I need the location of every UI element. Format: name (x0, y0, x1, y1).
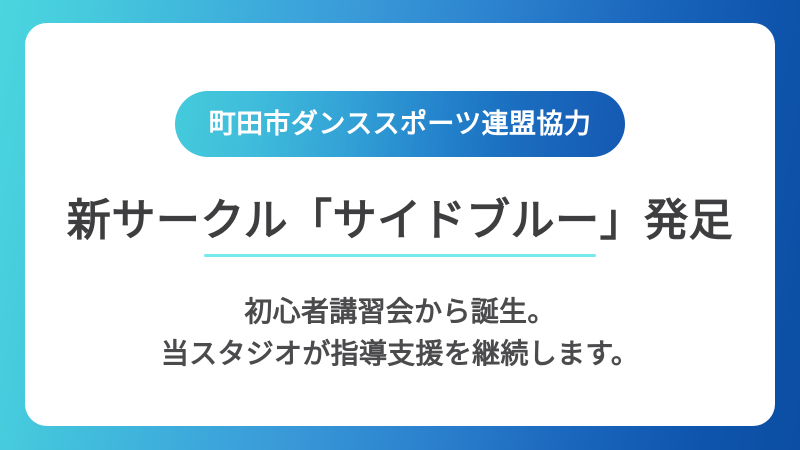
subtitle-block: 初心者講習会から誕生。 当スタジオが指導支援を継続します。 (161, 291, 639, 376)
partnership-badge: 町田市ダンススポーツ連盟協力 (175, 91, 626, 157)
headline-underline-accent (204, 254, 596, 257)
partnership-badge-label: 町田市ダンススポーツ連盟協力 (209, 111, 592, 138)
headline-group: 新サークル「サイドブルー」発足 (67, 195, 733, 257)
slide-background: 町田市ダンススポーツ連盟協力 新サークル「サイドブルー」発足 初心者講習会から誕… (0, 0, 800, 450)
page-title: 新サークル「サイドブルー」発足 (67, 195, 733, 247)
subtitle-line-2: 当スタジオが指導支援を継続します。 (161, 333, 639, 376)
announcement-card: 町田市ダンススポーツ連盟協力 新サークル「サイドブルー」発足 初心者講習会から誕… (25, 23, 775, 426)
subtitle-line-1: 初心者講習会から誕生。 (161, 291, 639, 334)
